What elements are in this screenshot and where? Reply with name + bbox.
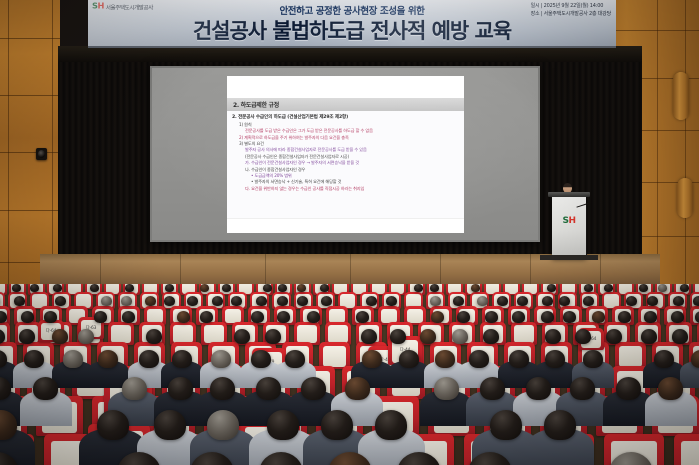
attendee-head xyxy=(471,284,480,292)
attendee-head xyxy=(644,311,657,323)
banner-meta-datetime: 일시 | 2025년 9월 22일(월) 14:00 xyxy=(531,3,611,11)
attendee-head xyxy=(251,350,271,368)
auditorium-seat xyxy=(319,342,350,369)
acoustic-cylinder xyxy=(673,72,689,120)
attendee-head xyxy=(604,284,613,292)
attendee-head xyxy=(626,296,637,306)
attendee-head xyxy=(434,377,459,400)
attendee-head xyxy=(420,329,436,344)
seat-cushion xyxy=(514,325,534,343)
podium-base xyxy=(540,255,598,260)
attendee-head xyxy=(452,329,468,344)
attendee-head xyxy=(139,350,159,368)
attendee-head xyxy=(639,284,648,292)
attendee-head xyxy=(583,350,603,368)
attendee-head xyxy=(12,284,21,292)
slide-section-title: 2. 하도급제한 규정 xyxy=(233,100,279,109)
attendee-head xyxy=(267,410,299,440)
seat-cushion xyxy=(323,346,347,367)
attendee-head xyxy=(641,329,657,344)
attendee-head xyxy=(559,296,570,306)
attendee-head xyxy=(584,284,593,292)
projection-screen: 2. 하도급제한 규정 2. 전문공사 수급인의 하도급 (건설산업기본법 제2… xyxy=(150,66,540,242)
seat-cushion xyxy=(111,325,131,343)
attendee-head xyxy=(33,377,58,400)
attendee-head xyxy=(430,296,441,306)
attendee-head xyxy=(55,296,66,306)
attendee-head xyxy=(307,311,320,323)
attendee-head xyxy=(101,296,112,306)
slide-line: 다. 요건을 위반하지 않는 경우는 수급인 공사를 직접시공 하라는 취지임 xyxy=(245,186,459,192)
attendee-head xyxy=(146,329,162,344)
attendee-head xyxy=(375,410,407,440)
attendee-head xyxy=(435,350,455,368)
seat-cushion xyxy=(173,325,193,343)
auditorium-seat xyxy=(615,342,646,369)
screen-surface: 2. 하도급제한 규정 2. 전문공사 수급인의 하도급 (건설산업기본법 제2… xyxy=(152,68,538,240)
attendee-head xyxy=(301,377,326,400)
attendee-head xyxy=(592,311,605,323)
attendee-head xyxy=(210,377,235,400)
attendee-head xyxy=(431,311,444,323)
audience-seating: 다-64다-63다-79다-48다-44다-64다-98다-111다-110 xyxy=(0,284,699,465)
attendee-head xyxy=(211,350,231,368)
attendee-head xyxy=(212,296,223,306)
attendee-head xyxy=(200,311,213,323)
attendee-head xyxy=(122,311,135,323)
attendee-head xyxy=(231,296,242,306)
attendee-head xyxy=(658,284,667,292)
attendee-head xyxy=(693,296,699,306)
slide-topbar xyxy=(227,76,464,99)
seat-cushion xyxy=(204,325,224,343)
slide-body: 2. 전문공사 수급인의 하도급 (건설산업기본법 제29조 제2항)1) 원칙… xyxy=(227,111,464,219)
attendee-head xyxy=(430,284,439,292)
presentation-slide: 2. 하도급제한 규정 2. 전문공사 수급인의 하도급 (건설산업기본법 제2… xyxy=(227,76,464,233)
attendee-head xyxy=(497,296,508,306)
attendee-head xyxy=(78,329,94,344)
attendee-head xyxy=(671,311,684,323)
attendee-head xyxy=(672,329,688,344)
attendee-head xyxy=(321,296,332,306)
attendee-head xyxy=(547,284,556,292)
attendee-head xyxy=(673,296,684,306)
attendee-head xyxy=(164,296,175,306)
seat-cushion xyxy=(681,441,699,465)
attendee-head xyxy=(234,329,250,344)
attendee-head xyxy=(125,284,134,292)
attendee-head xyxy=(345,377,370,400)
attendee-head xyxy=(172,350,192,368)
auditorium-seat xyxy=(674,434,699,465)
attendee-head xyxy=(53,284,62,292)
attendee-head xyxy=(277,296,288,306)
attendee-head xyxy=(98,350,118,368)
attendee-head xyxy=(526,377,551,400)
attendee-head xyxy=(563,311,576,323)
attendee-head xyxy=(21,311,34,323)
attendee-head xyxy=(251,311,264,323)
attendee-head xyxy=(187,296,198,306)
attendee-head xyxy=(545,329,561,344)
attendee-head xyxy=(207,410,239,440)
banner-meta: 일시 | 2025년 9월 22일(월) 14:00 장소 | 서울주택도시개발… xyxy=(531,3,611,19)
wall-speaker-icon xyxy=(36,148,47,160)
stage-valance xyxy=(58,46,642,62)
attendee-head xyxy=(52,329,68,344)
attendee-head xyxy=(14,296,25,306)
attendee-head xyxy=(517,296,528,306)
attendee-head xyxy=(483,329,499,344)
attendee-head xyxy=(297,284,306,292)
attendee-head xyxy=(680,284,689,292)
attendee-head xyxy=(222,284,231,292)
attendee-head xyxy=(386,296,397,306)
attendee-head xyxy=(200,284,209,292)
attendee-head xyxy=(277,311,290,323)
attendee-head xyxy=(512,311,525,323)
attendee-head xyxy=(469,350,489,368)
attendee-head xyxy=(399,350,419,368)
attendee-head xyxy=(44,311,57,323)
attendee-head xyxy=(485,311,498,323)
attendee-head xyxy=(414,284,423,292)
attendee-head xyxy=(90,284,99,292)
attendee-head xyxy=(177,311,190,323)
attendee-head xyxy=(658,377,683,400)
slide-footer xyxy=(227,218,464,233)
attendee-head xyxy=(654,350,674,368)
seat-cushion xyxy=(297,325,317,343)
attendee-head xyxy=(691,350,699,368)
attendee-head xyxy=(165,284,174,292)
slide-section-header: 2. 하도급제한 규정 xyxy=(227,98,464,111)
microphone-stand xyxy=(586,205,587,255)
attendee-head xyxy=(616,377,641,400)
attendee-head xyxy=(94,311,107,323)
attendee-head xyxy=(544,410,576,440)
event-banner: SH 서울주택도시개발공사 안전하고 공정한 공사현장 조성을 위한 건설공사 … xyxy=(88,0,616,48)
attendee-head xyxy=(122,377,147,400)
attendee-head xyxy=(121,296,132,306)
attendee-head xyxy=(154,410,186,440)
acoustic-cylinder xyxy=(677,178,693,218)
attendee-head xyxy=(265,329,281,344)
attendee-head xyxy=(321,410,353,440)
attendee-head xyxy=(24,350,44,368)
podium-top xyxy=(548,192,590,197)
attendee-head xyxy=(618,311,631,323)
attendee-head xyxy=(390,329,406,344)
attendee-head xyxy=(366,296,377,306)
attendee-head xyxy=(285,350,305,368)
attendee-head xyxy=(570,377,595,400)
attendee-head xyxy=(545,350,565,368)
attendee-head xyxy=(509,350,529,368)
attendee-head xyxy=(356,311,369,323)
attendee-head xyxy=(19,329,35,344)
attendee-head xyxy=(263,284,272,292)
attendee-head xyxy=(362,350,382,368)
attendee-head xyxy=(477,296,488,306)
attendee-head xyxy=(583,296,594,306)
attendee-head xyxy=(145,296,156,306)
attendee-head xyxy=(168,377,193,400)
attendee-head xyxy=(297,296,308,306)
attendee-head xyxy=(695,311,699,323)
attendee-head xyxy=(490,410,522,440)
attendee-head xyxy=(480,377,505,400)
attendee-head xyxy=(256,377,281,400)
attendee-head xyxy=(606,329,622,344)
attendee-head xyxy=(542,296,553,306)
attendee-head xyxy=(97,410,129,440)
auditorium-photo: SH 서울주택도시개발공사 안전하고 공정한 공사현장 조성을 위한 건설공사 … xyxy=(0,0,699,465)
podium-sh-logo-icon: SH xyxy=(552,216,586,226)
banner-meta-location: 장소 | 서울주택도시개발공사 2층 대강당 xyxy=(531,11,611,19)
attendee-head xyxy=(361,329,377,344)
attendee-head xyxy=(453,296,464,306)
attendee-head xyxy=(278,284,287,292)
attendee-head xyxy=(320,284,329,292)
attendee-head xyxy=(457,311,470,323)
attendee-head xyxy=(30,284,39,292)
attendee-head xyxy=(575,329,591,344)
seat-cushion xyxy=(328,325,348,343)
attendee-head xyxy=(63,350,83,368)
banner-title: 건설공사 불법하도급 전사적 예방 교육 xyxy=(88,15,616,45)
slide-line: 2. 전문공사 수급인의 하도급 (건설산업기본법 제29조 제2항) xyxy=(232,115,459,122)
seat-cushion xyxy=(619,346,643,367)
attendee-head xyxy=(541,311,554,323)
attendee-head xyxy=(647,296,658,306)
attendee-head xyxy=(256,296,267,306)
